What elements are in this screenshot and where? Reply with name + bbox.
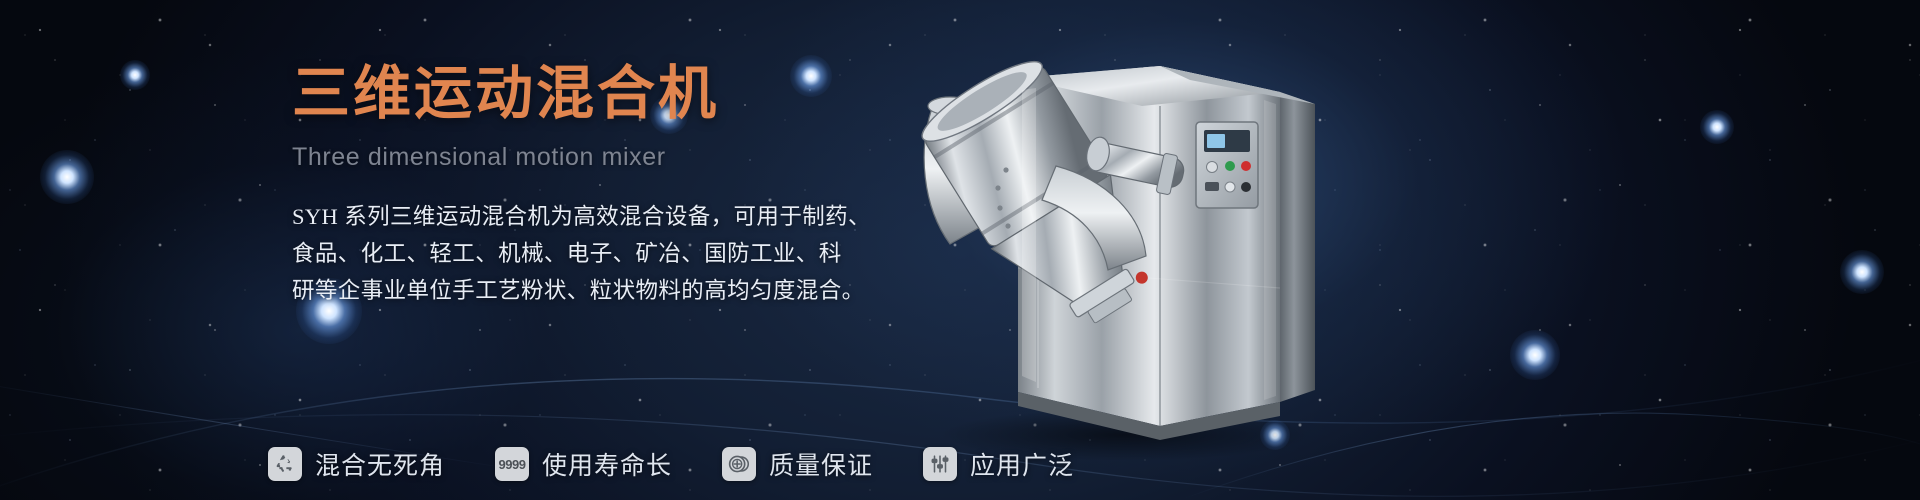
feature-item-quality[interactable]: 质量保证 [722, 446, 873, 482]
glow-star-8 [120, 60, 150, 90]
product-description: SYH 系列三维运动混合机为高效混合设备，可用于制药、 食品、化工、轻工、机械、… [292, 198, 812, 309]
description-line: SYH 系列三维运动混合机为高效混合设备，可用于制药、 [292, 198, 812, 235]
glow-star-9 [1840, 250, 1884, 294]
feature-list: 混合无死角 9999 使用寿命长 质量保证 [268, 446, 1074, 482]
description-line: 食品、化工、轻工、机械、电子、矿冶、国防工业、科 [292, 235, 812, 272]
sliders-icon [923, 447, 957, 481]
feature-item-application[interactable]: 应用广泛 [923, 446, 1074, 482]
glow-star-6 [1700, 110, 1734, 144]
page-title: 三维运动混合机 [292, 62, 1052, 127]
feature-item-lifespan[interactable]: 9999 使用寿命长 [495, 446, 672, 482]
feature-label: 应用广泛 [970, 446, 1074, 482]
feature-label: 混合无死角 [315, 446, 445, 482]
recycle-icon [268, 447, 302, 481]
description-line: 研等企事业单位手工艺粉状、粒状物料的高均匀度混合。 [292, 272, 812, 309]
product-hero-banner: 三维运动混合机 Three dimensional motion mixer S… [0, 0, 1920, 500]
counter-value: 9999 [499, 457, 526, 472]
banner-copy: 三维运动混合机 Three dimensional motion mixer S… [292, 62, 1052, 309]
feature-label: 使用寿命长 [542, 446, 672, 482]
coin-plus-icon [722, 447, 756, 481]
glow-star-1 [40, 150, 94, 204]
feature-label: 质量保证 [769, 446, 873, 482]
feature-item-mixing[interactable]: 混合无死角 [268, 446, 445, 482]
page-subtitle: Three dimensional motion mixer [292, 143, 1052, 172]
counter-9999-icon: 9999 [495, 447, 529, 481]
glow-star-5 [1510, 330, 1560, 380]
